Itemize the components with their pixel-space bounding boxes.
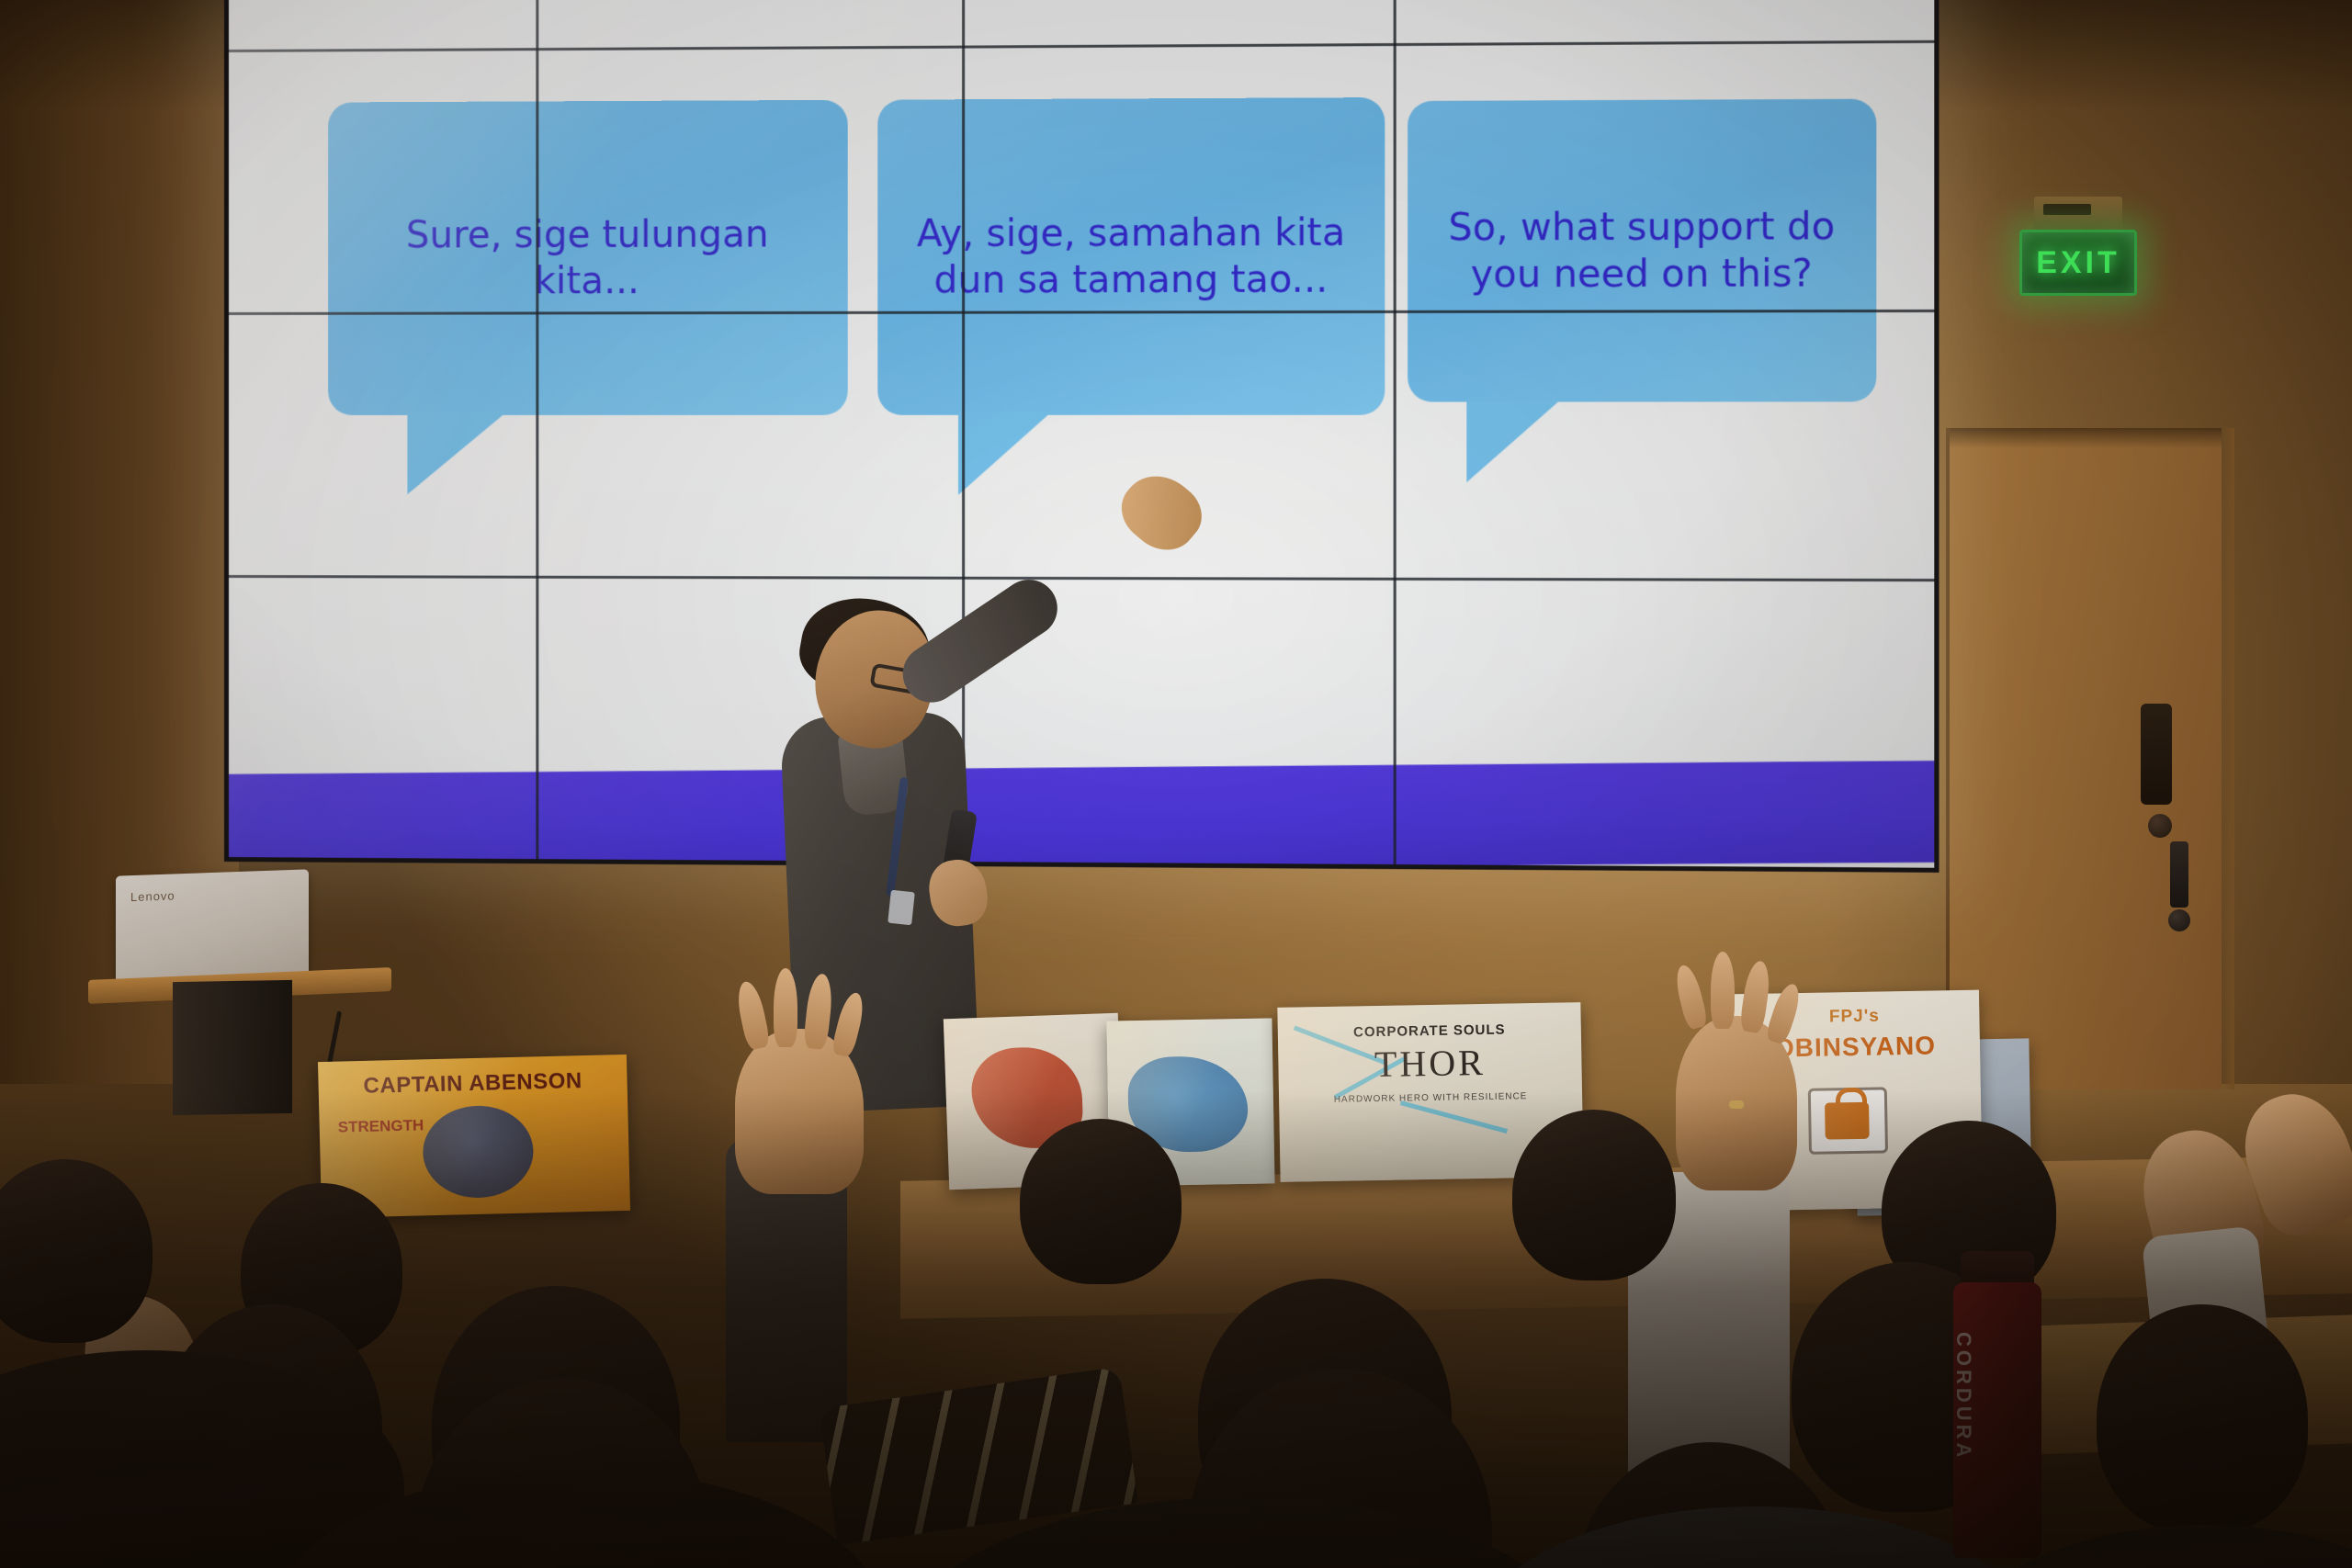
exit-sign-mount-plate xyxy=(2043,204,2091,215)
laptop-brand-label: Lenovo xyxy=(130,888,175,904)
audience-head xyxy=(1512,1110,1676,1280)
speech-bubble-1: Sure, sige tulungan kita... xyxy=(328,100,848,415)
speech-bubble-3-body: So, what support do you need on this? xyxy=(1408,99,1876,402)
audience-head xyxy=(2097,1304,2308,1534)
speech-bubble-1-tail xyxy=(407,412,507,494)
wall-speaker xyxy=(2141,704,2172,805)
presenter-badge xyxy=(888,890,915,926)
speech-bubble-3: So, what support do you need on this? xyxy=(1408,99,1876,402)
video-wall-frame: Sure, sige tulungan kita... Ay, sige, sa… xyxy=(224,0,1939,873)
slide-content: Sure, sige tulungan kita... Ay, sige, sa… xyxy=(229,0,1934,868)
exit-sign: EXIT xyxy=(2019,230,2137,296)
finger xyxy=(1764,981,1804,1045)
speech-bubble-2-tail xyxy=(958,412,1052,495)
door-top-shadow xyxy=(1950,428,2222,448)
door-knob-icon[interactable] xyxy=(2168,909,2190,931)
lecture-hall-scene: EXIT Sure, sige tulungan kita... Ay, sig… xyxy=(0,0,2352,1568)
speech-bubble-1-text: Sure, sige tulungan kita... xyxy=(328,211,848,306)
finger xyxy=(1739,960,1773,1034)
audience-head xyxy=(1020,1119,1182,1284)
wall-sensor-dot xyxy=(2148,814,2172,838)
speech-bubble-2-text: Ay, sige, samahan kita dun sa tamang tao… xyxy=(877,209,1385,304)
speech-bubble-2: Ay, sige, samahan kita dun sa tamang tao… xyxy=(877,97,1385,415)
finger xyxy=(1711,952,1735,1029)
finger xyxy=(734,979,772,1051)
presentation-screen[interactable]: Sure, sige tulungan kita... Ay, sige, sa… xyxy=(229,0,1934,868)
speech-bubble-1-body: Sure, sige tulungan kita... xyxy=(328,100,848,415)
finger xyxy=(774,968,797,1047)
bottle-label: CORDURA xyxy=(1951,1332,1975,1461)
slide-accent-band xyxy=(229,761,1934,868)
speech-bubble-3-text: So, what support do you need on this? xyxy=(1408,203,1876,299)
finger xyxy=(831,990,867,1058)
exit-sign-assembly: EXIT xyxy=(2019,230,2137,296)
speech-bubble-3-tail xyxy=(1466,402,1558,483)
exit-sign-mount xyxy=(2034,197,2122,230)
audience-head xyxy=(0,1159,153,1343)
exit-sign-label: EXIT xyxy=(2036,245,2120,281)
door-handle-icon[interactable] xyxy=(2170,841,2188,908)
finger xyxy=(1672,963,1709,1031)
ring xyxy=(1729,1100,1744,1109)
speech-bubble-2-body: Ay, sige, samahan kita dun sa tamang tao… xyxy=(877,97,1385,415)
